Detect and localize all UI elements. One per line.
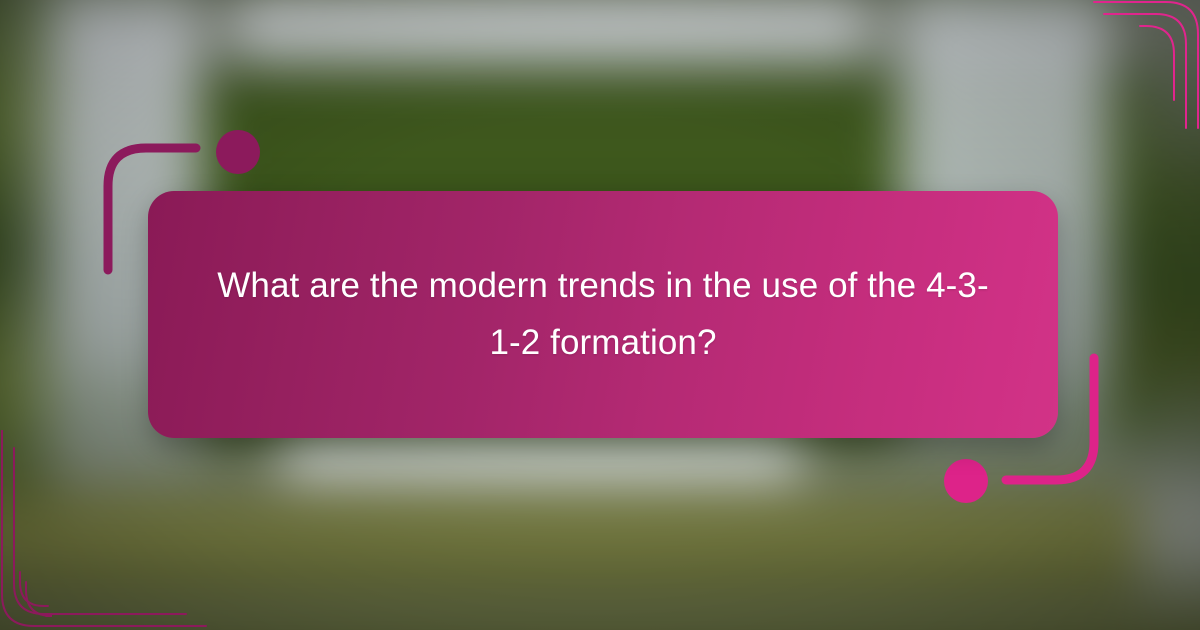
question-text: What are the modern trends in the use of…: [213, 258, 993, 371]
question-card-canvas: What are the modern trends in the use of…: [0, 0, 1200, 630]
question-card: What are the modern trends in the use of…: [148, 191, 1058, 438]
